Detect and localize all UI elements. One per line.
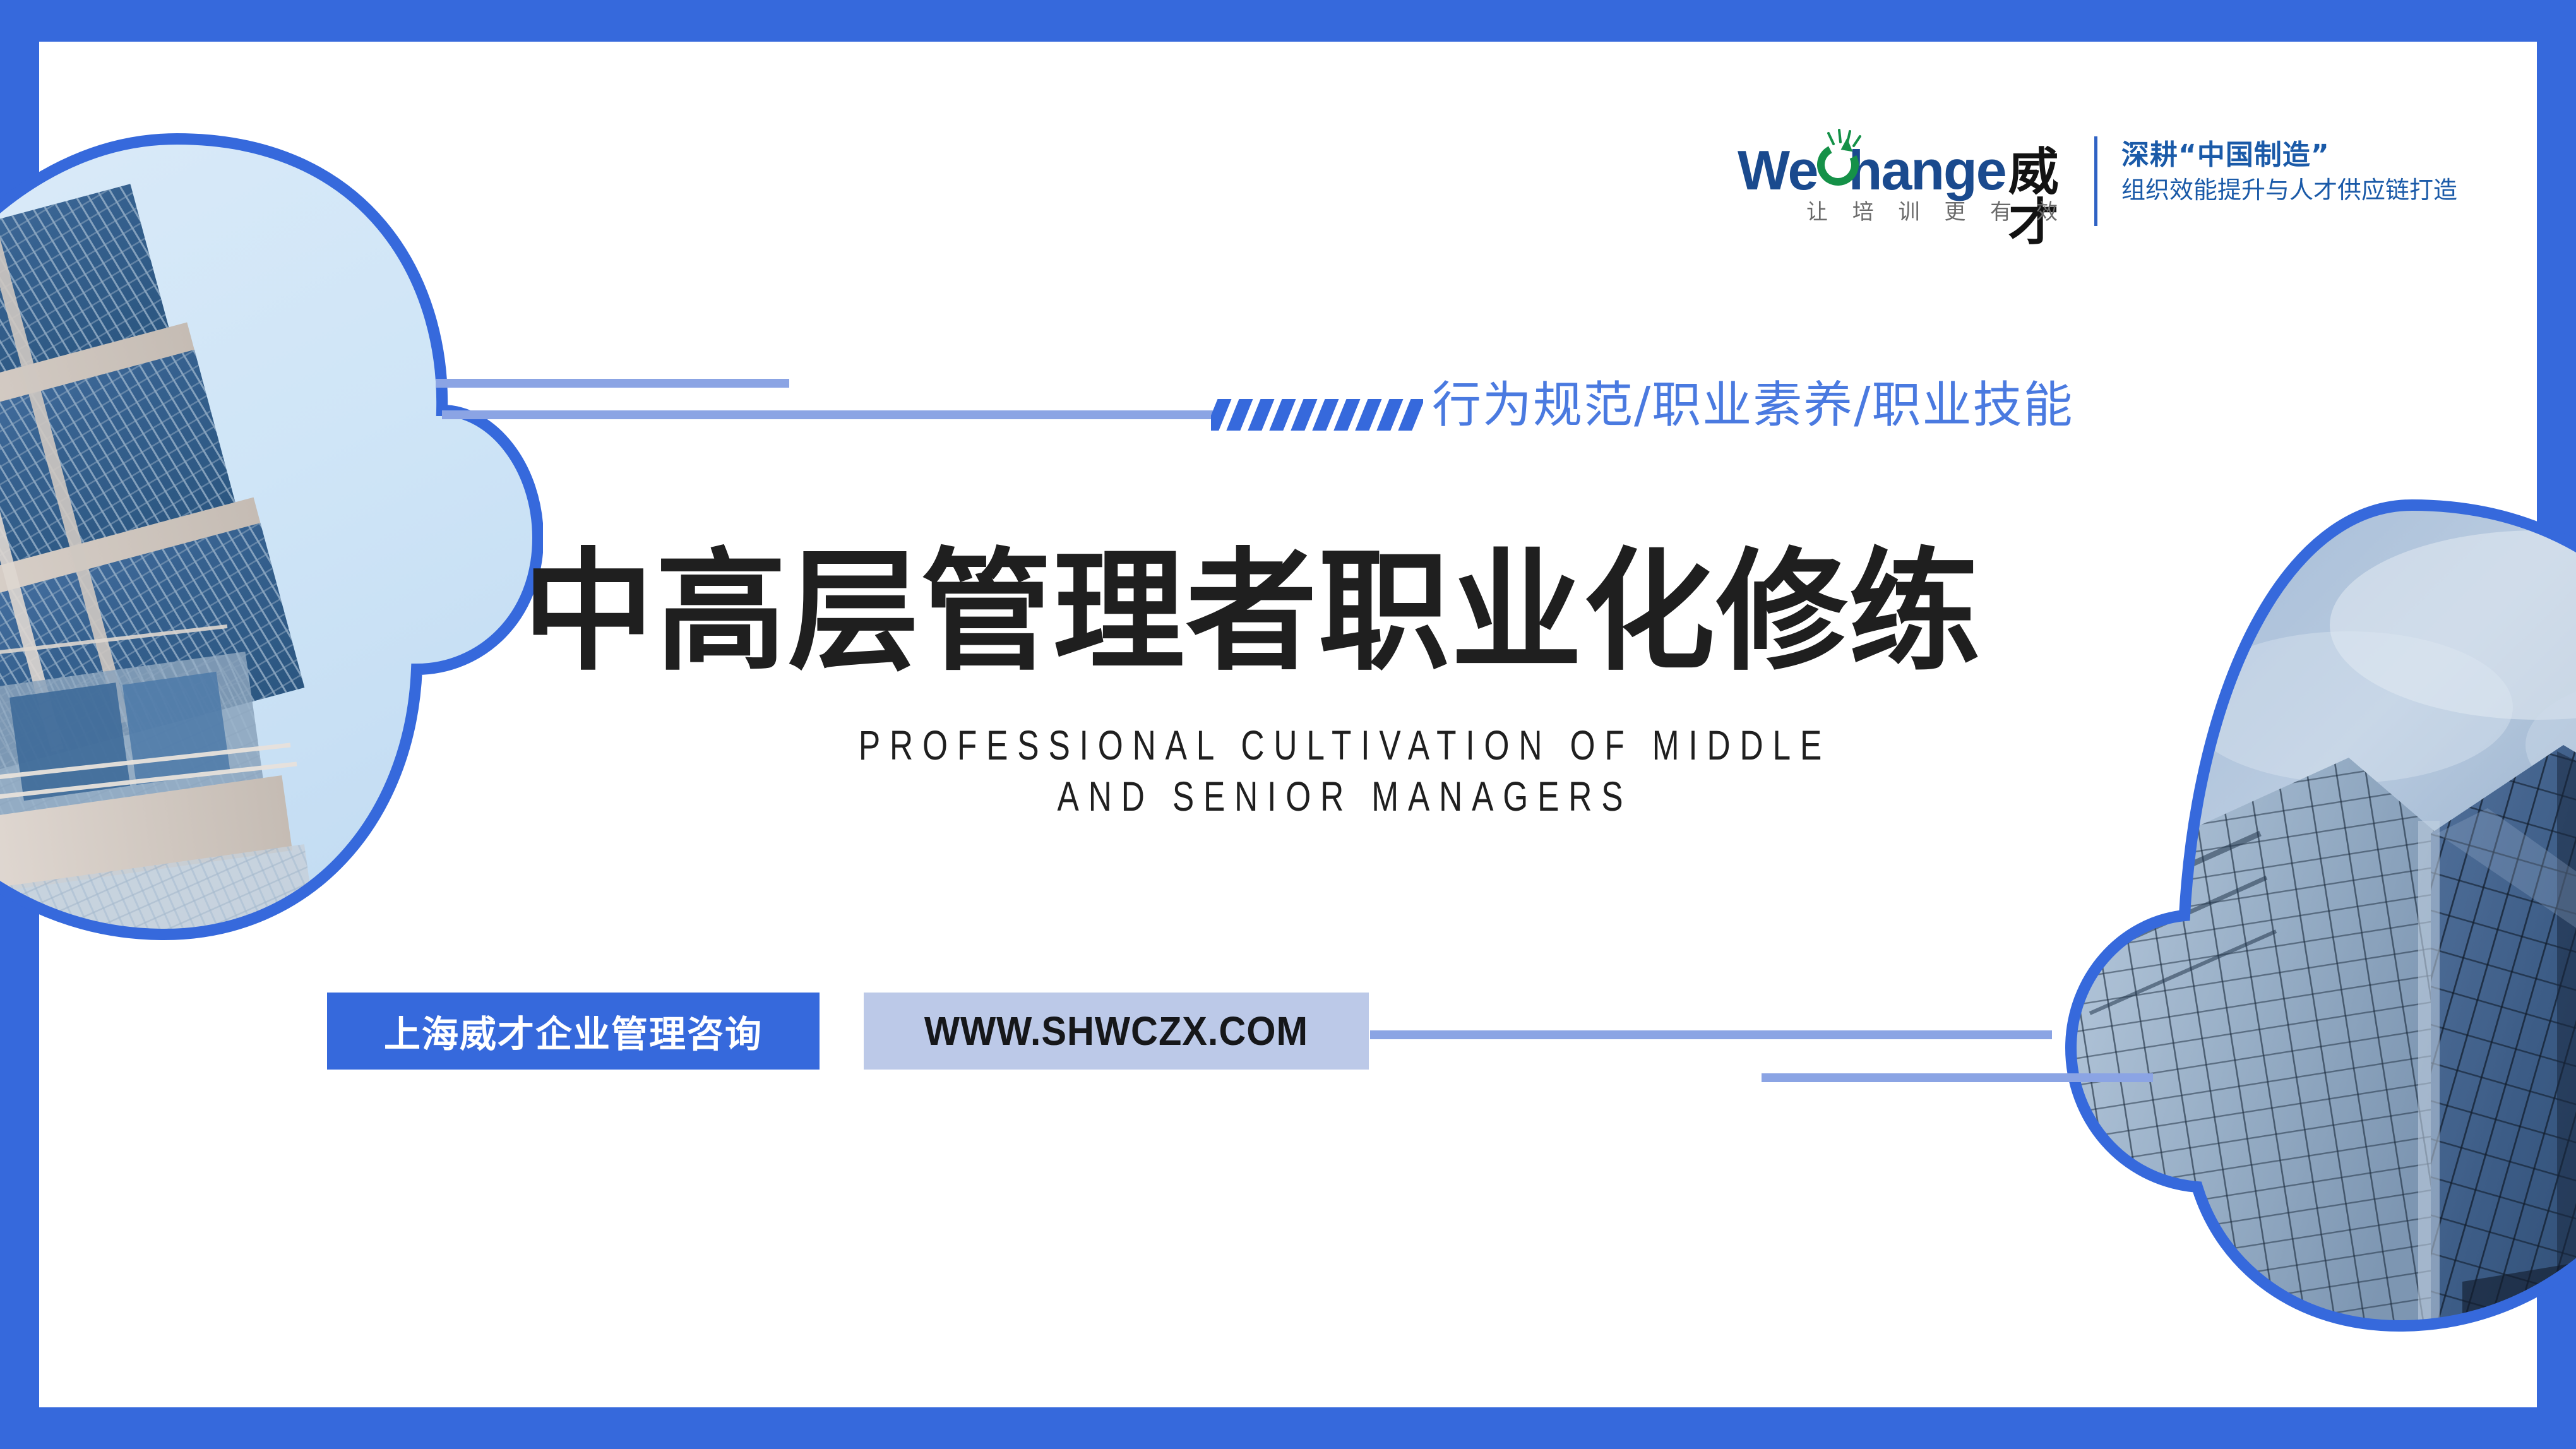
company-badge[interactable]: 上海威才企业管理咨询 <box>327 993 820 1070</box>
deco-line-left-long <box>442 410 1215 419</box>
page-title: 中高层管理者职业化修练 <box>523 547 1981 678</box>
brand-tagline-secondary: 组织效能提升与人才供应链打造 <box>2121 174 2457 207</box>
subtitle-line-2: AND SENIOR MANAGERS <box>670 771 2019 822</box>
diagonal-stripes-icon <box>1211 399 1423 431</box>
brand-we-text: We <box>1738 143 1817 198</box>
page-subtitle: PROFESSIONAL CULTIVATION OF MIDDLE AND S… <box>480 720 2210 821</box>
subtitle-line-1: PROFESSIONAL CULTIVATION OF MIDDLE <box>670 720 2019 771</box>
deco-line-right-short <box>1762 1073 2153 1082</box>
poster-canvas: 行为规范/职业素养/职业技能 中高层管理者职业化修练 PROFESSIONAL … <box>0 0 2576 1449</box>
website-badge[interactable]: WWW.SHWCZX.COM <box>864 993 1369 1070</box>
brand-wordmark: We hange 威才 <box>1738 134 2075 192</box>
cloud-left-photo <box>0 114 543 1035</box>
company-badge-label: 上海威才企业管理咨询 <box>384 1005 763 1058</box>
website-badge-label: WWW.SHWCZX.COM <box>924 1008 1308 1054</box>
logo-divider <box>2094 136 2097 226</box>
deco-line-left-short <box>436 379 789 388</box>
brand-logo-right: 深耕“中国制造” 组织效能提升与人才供应链打造 <box>2121 134 2457 208</box>
tagline-text: 行为规范/职业素养/职业技能 <box>1432 381 2074 430</box>
cloud-right <box>1995 480 2576 1414</box>
brand-logo[interactable]: We hange 威才 让 培 训 更 有 效 <box>1738 134 2457 227</box>
brand-hange-text: hange <box>1849 143 2006 198</box>
cloud-right-photo <box>1995 480 2576 1414</box>
c-sun-arrow-icon <box>1817 134 1848 189</box>
deco-line-right-long <box>1370 1030 2052 1039</box>
brand-tagline-primary: 深耕“中国制造” <box>2121 136 2457 174</box>
cloud-left <box>0 114 543 1035</box>
brand-slogan: 让 培 训 更 有 效 <box>1806 194 2066 225</box>
brand-logo-left: We hange 威才 让 培 训 更 有 效 <box>1738 134 2075 192</box>
